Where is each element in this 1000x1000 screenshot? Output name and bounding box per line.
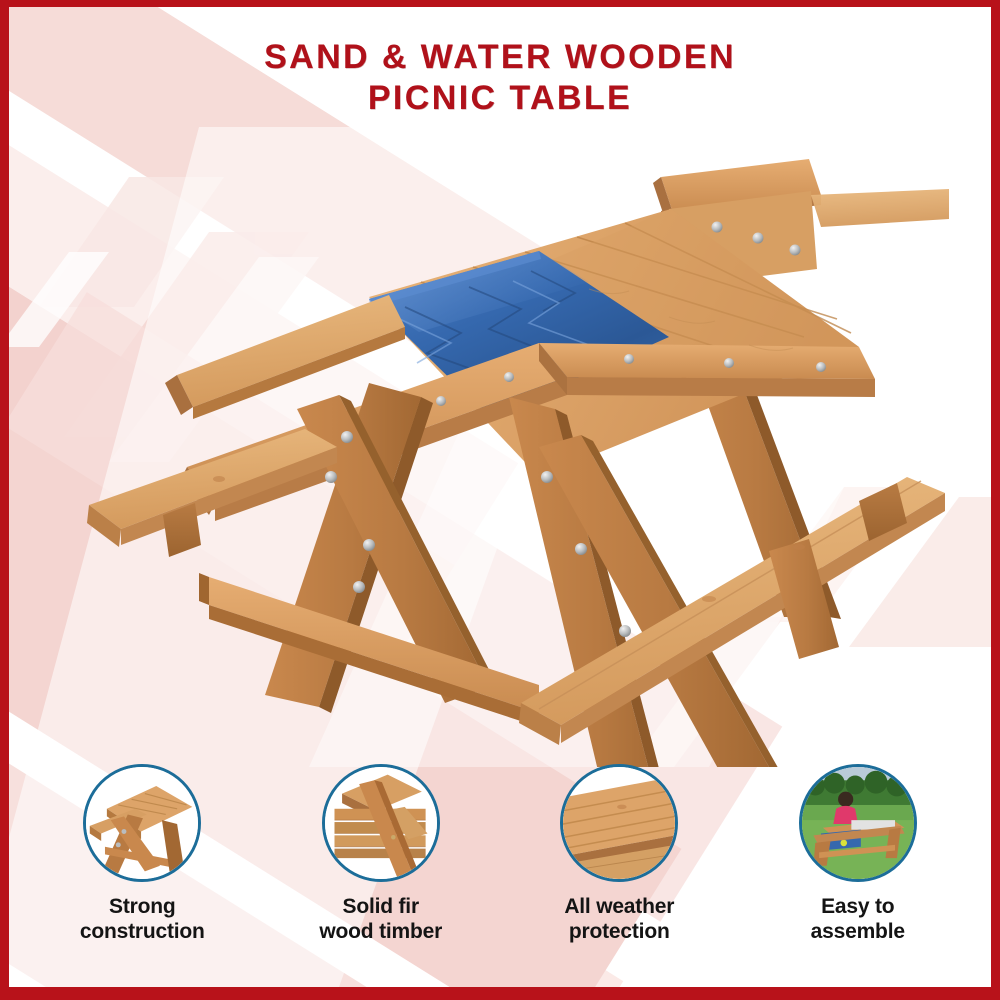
poster-frame: SAND & WATER WOODEN PICNIC TABLE [0,0,1000,1000]
timber-planks-icon [322,764,440,882]
page-title: SAND & WATER WOODEN PICNIC TABLE [9,37,991,119]
title-line-1: SAND & WATER WOODEN [9,37,991,78]
child-playing-photo-icon [799,764,917,882]
feature-label: Easy to assemble [811,894,905,944]
title-line-2: PICNIC TABLE [9,78,991,119]
feature-label: Strong construction [80,894,205,944]
feature-item-strong-construction: Strong construction [23,764,262,979]
poster-canvas: SAND & WATER WOODEN PICNIC TABLE [9,7,991,987]
product-hero-image [69,147,949,767]
feature-item-easy-to-assemble: Easy to assemble [739,764,978,979]
feature-item-all-weather-protection: All weather protection [500,764,739,979]
wood-surface-icon [560,764,678,882]
picnic-table-frame-icon [83,764,201,882]
feature-label: Solid fir wood timber [319,894,442,944]
feature-label: All weather protection [564,894,674,944]
feature-item-solid-fir-timber: Solid fir wood timber [262,764,501,979]
feature-strip: Strong construction [23,764,977,979]
